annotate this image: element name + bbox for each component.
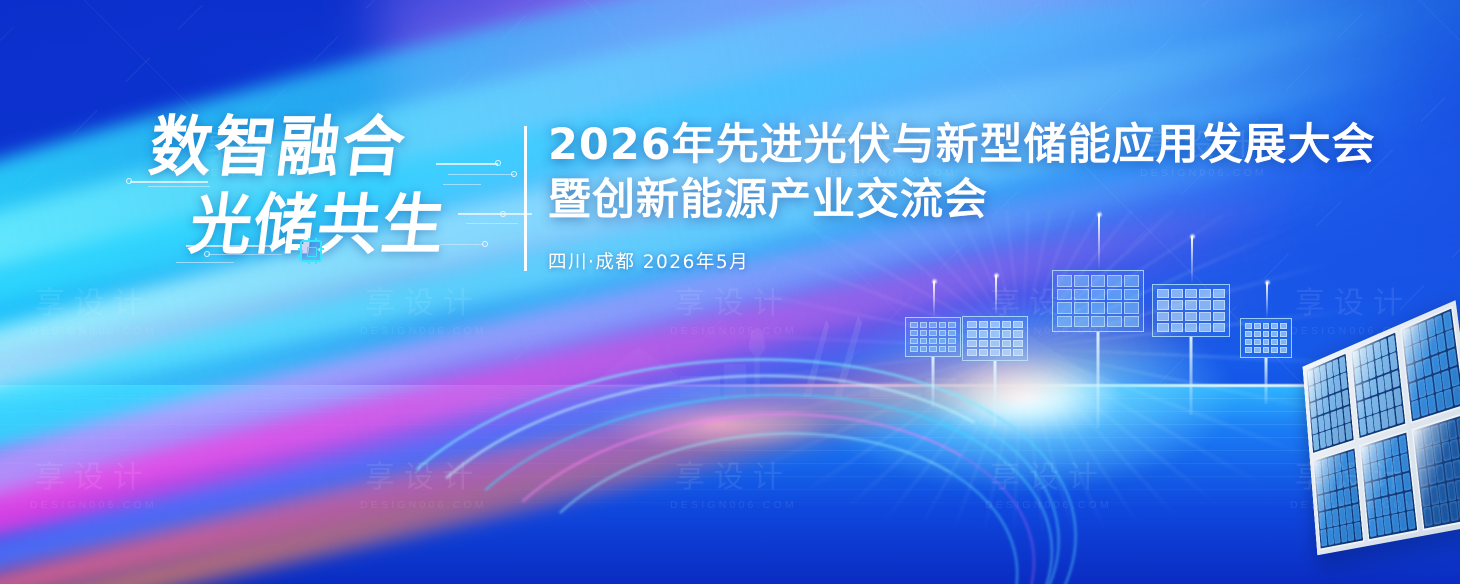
solar-cell <box>1107 316 1122 328</box>
solar-cell <box>1359 418 1367 436</box>
conference-banner: 数智融合 光储共生 2026年先进光伏与新型储能应用发展大会 暨创新能源产业交流… <box>0 0 1460 584</box>
solar-cell <box>939 330 947 336</box>
solar-cell <box>1057 302 1072 314</box>
solar-cell <box>920 322 928 328</box>
solar-cell <box>1310 401 1317 418</box>
light-spark <box>995 275 997 316</box>
solar-cell <box>1419 468 1428 488</box>
solar-cell <box>1365 482 1373 500</box>
solar-cell <box>1363 464 1371 482</box>
solar-module-cells <box>1415 417 1460 527</box>
solar-cell <box>1356 384 1364 402</box>
solar-cell <box>1199 289 1211 298</box>
solar-panel-icon-1 <box>905 317 961 357</box>
solar-cell <box>1369 519 1377 538</box>
microchip-pin <box>315 260 317 264</box>
solar-cell <box>1171 323 1183 332</box>
solar-cell <box>910 338 918 344</box>
solar-cell <box>1312 417 1319 434</box>
solar-cell <box>1411 400 1420 419</box>
event-location-date: 四川·成都 2026年5月 <box>548 248 1378 274</box>
solar-panel-icon-4 <box>1152 284 1230 337</box>
solar-cell <box>1450 367 1460 387</box>
solar-cell <box>1340 372 1347 390</box>
solar-cell <box>1057 289 1072 301</box>
solar-cell <box>1320 529 1327 546</box>
solar-cell <box>920 330 928 336</box>
solar-cell <box>1417 449 1426 469</box>
solar-cell <box>990 330 1000 337</box>
light-spark <box>933 281 935 317</box>
solar-module-cells <box>1308 356 1353 451</box>
solar-cell <box>1124 316 1139 328</box>
solar-cell <box>1349 468 1357 486</box>
solar-module <box>1400 306 1460 423</box>
solar-cell <box>1339 356 1346 374</box>
solar-panel-icon-2 <box>962 316 1028 361</box>
solar-cell <box>929 346 937 352</box>
solar-cell <box>1185 312 1197 321</box>
microchip-pin <box>320 248 324 250</box>
solar-module-cells <box>1362 435 1416 537</box>
solar-cell <box>1400 453 1409 472</box>
solar-cell <box>1390 352 1398 371</box>
microchip-pin <box>308 238 310 242</box>
solar-cell <box>1057 275 1072 287</box>
solar-cell <box>929 330 937 336</box>
solar-cell <box>1352 504 1360 522</box>
solar-cell <box>939 338 947 344</box>
solar-cell <box>1353 350 1360 368</box>
solar-cell <box>1185 323 1197 332</box>
solar-cell <box>967 321 977 328</box>
solar-module <box>1305 352 1355 455</box>
solar-cell <box>1398 435 1407 454</box>
solar-cell <box>1357 401 1365 419</box>
solar-cell <box>1409 382 1418 401</box>
panel-pole <box>1097 332 1100 428</box>
microchip-pin <box>298 248 302 250</box>
solar-cell <box>1002 321 1012 328</box>
solar-cell <box>1199 323 1211 332</box>
solar-cell <box>1002 340 1012 347</box>
slogan-line-1: 数智融合 <box>146 114 410 180</box>
solar-cell <box>1443 311 1452 331</box>
solar-cell <box>1453 459 1460 479</box>
solar-cell <box>1445 329 1455 349</box>
solar-cell <box>1343 406 1350 424</box>
solar-cell <box>1403 328 1412 347</box>
solar-cell <box>1002 330 1012 337</box>
solar-cell <box>1362 446 1370 464</box>
solar-cell <box>1318 494 1325 511</box>
solar-cell <box>1452 386 1460 406</box>
solar-cell <box>1157 289 1169 298</box>
solar-cell <box>1319 512 1326 529</box>
solar-cell <box>990 321 1000 328</box>
solar-cell <box>967 330 977 337</box>
solar-cell <box>1407 510 1416 529</box>
solar-module <box>1359 430 1419 541</box>
solar-cell <box>979 330 989 337</box>
solar-cell <box>948 330 956 336</box>
solar-cell <box>990 349 1000 356</box>
solar-cell <box>1342 389 1349 407</box>
solar-cell <box>1316 477 1323 494</box>
solar-cell <box>910 322 918 328</box>
solar-cell <box>910 330 918 336</box>
solar-cell <box>1421 487 1430 507</box>
solar-module <box>1412 412 1460 531</box>
title-block: 2026年先进光伏与新型储能应用发展大会 暨创新能源产业交流会 四川·成都 20… <box>548 118 1378 274</box>
solar-cell <box>1107 275 1122 287</box>
solar-cell <box>1013 349 1023 356</box>
solar-cell <box>1091 316 1106 328</box>
solar-cell <box>1107 302 1122 314</box>
solar-cell <box>1124 302 1139 314</box>
solar-cell <box>979 340 989 347</box>
solar-cell <box>1074 275 1089 287</box>
solar-cell <box>1393 387 1401 406</box>
solar-cell <box>1171 312 1183 321</box>
microchip-pin <box>315 238 317 242</box>
solar-cell <box>1354 367 1361 385</box>
solar-cell <box>1057 316 1072 328</box>
solar-cell <box>1351 486 1359 504</box>
solar-cell <box>939 346 947 352</box>
solar-cell <box>1415 430 1424 449</box>
solar-cell <box>1308 369 1314 386</box>
panel-pole <box>932 357 935 407</box>
solar-cell <box>1074 302 1089 314</box>
solar-cell <box>967 349 977 356</box>
solar-cell <box>1423 507 1432 527</box>
swirl-light-trails <box>350 350 1197 584</box>
solar-cell <box>1309 385 1316 402</box>
solar-cell <box>1185 300 1197 309</box>
panel-pole <box>1190 337 1193 415</box>
vertical-divider <box>524 126 527 271</box>
solar-cell <box>929 322 937 328</box>
solar-cell <box>1002 349 1012 356</box>
solar-panel-grid <box>905 317 961 357</box>
solar-cell <box>1013 330 1023 337</box>
panel-pole <box>994 361 997 427</box>
microchip-core <box>307 247 317 257</box>
solar-module <box>1350 330 1407 440</box>
solar-cell <box>948 338 956 344</box>
solar-cell <box>1074 316 1089 328</box>
solar-cell <box>1447 348 1457 368</box>
solar-cell <box>1405 346 1414 365</box>
solar-panel-grid <box>1052 270 1144 332</box>
solar-cell <box>1354 522 1362 540</box>
solar-cell <box>1405 491 1414 510</box>
circuit-node <box>511 171 517 177</box>
solar-cell <box>920 346 928 352</box>
solar-cell <box>1107 289 1122 301</box>
microchip-pin <box>320 255 324 257</box>
solar-module-cells <box>1315 451 1362 547</box>
solar-cell <box>1347 451 1354 469</box>
solar-cell <box>1124 275 1139 287</box>
solar-cell <box>1185 289 1197 298</box>
solar-cell <box>1199 300 1211 309</box>
solar-cell <box>1171 289 1183 298</box>
solar-cell <box>1313 434 1320 451</box>
solar-panel-icon-3 <box>1052 270 1144 332</box>
solar-panel-grid <box>962 316 1028 361</box>
solar-cell <box>948 346 956 352</box>
solar-cell <box>929 338 937 344</box>
solar-cell <box>1091 289 1106 301</box>
solar-cell <box>1395 405 1403 424</box>
solar-cell <box>979 321 989 328</box>
solar-cell <box>1157 312 1169 321</box>
solar-cell <box>1199 312 1211 321</box>
solar-module-cells <box>1403 311 1460 419</box>
solar-cell <box>1157 323 1169 332</box>
solar-cell <box>1091 275 1106 287</box>
solar-module-cells <box>1353 335 1404 436</box>
microchip-pin <box>298 255 302 257</box>
solar-cell <box>1157 300 1169 309</box>
solar-cell <box>990 340 1000 347</box>
solar-cell <box>1124 289 1139 301</box>
solar-module <box>1313 446 1365 550</box>
conference-title-line-1: 2026年先进光伏与新型储能应用发展大会 <box>548 118 1378 173</box>
microchip-pin <box>308 260 310 264</box>
solar-cell <box>1013 340 1023 347</box>
solar-cell <box>1074 289 1089 301</box>
solar-cell <box>1367 500 1375 518</box>
solar-cell <box>1315 461 1322 478</box>
solar-cell <box>1013 321 1023 328</box>
solar-cell <box>1171 300 1183 309</box>
solar-cell <box>910 346 918 352</box>
solar-cell <box>920 338 928 344</box>
solar-cell <box>967 340 977 347</box>
solar-cell <box>948 322 956 328</box>
conference-title-line-2: 暨创新能源产业交流会 <box>548 173 1378 228</box>
solar-cell <box>939 322 947 328</box>
solar-panel-array <box>1220 292 1460 524</box>
solar-cell <box>1391 370 1399 389</box>
microchip-icon <box>300 240 322 262</box>
solar-cell <box>1091 302 1106 314</box>
solar-cell <box>1388 335 1396 354</box>
solar-cell <box>979 349 989 356</box>
solar-cell <box>1407 364 1416 383</box>
solar-cell <box>1402 472 1411 491</box>
solar-panel-grid <box>1152 284 1230 337</box>
solar-cell <box>1345 423 1352 441</box>
